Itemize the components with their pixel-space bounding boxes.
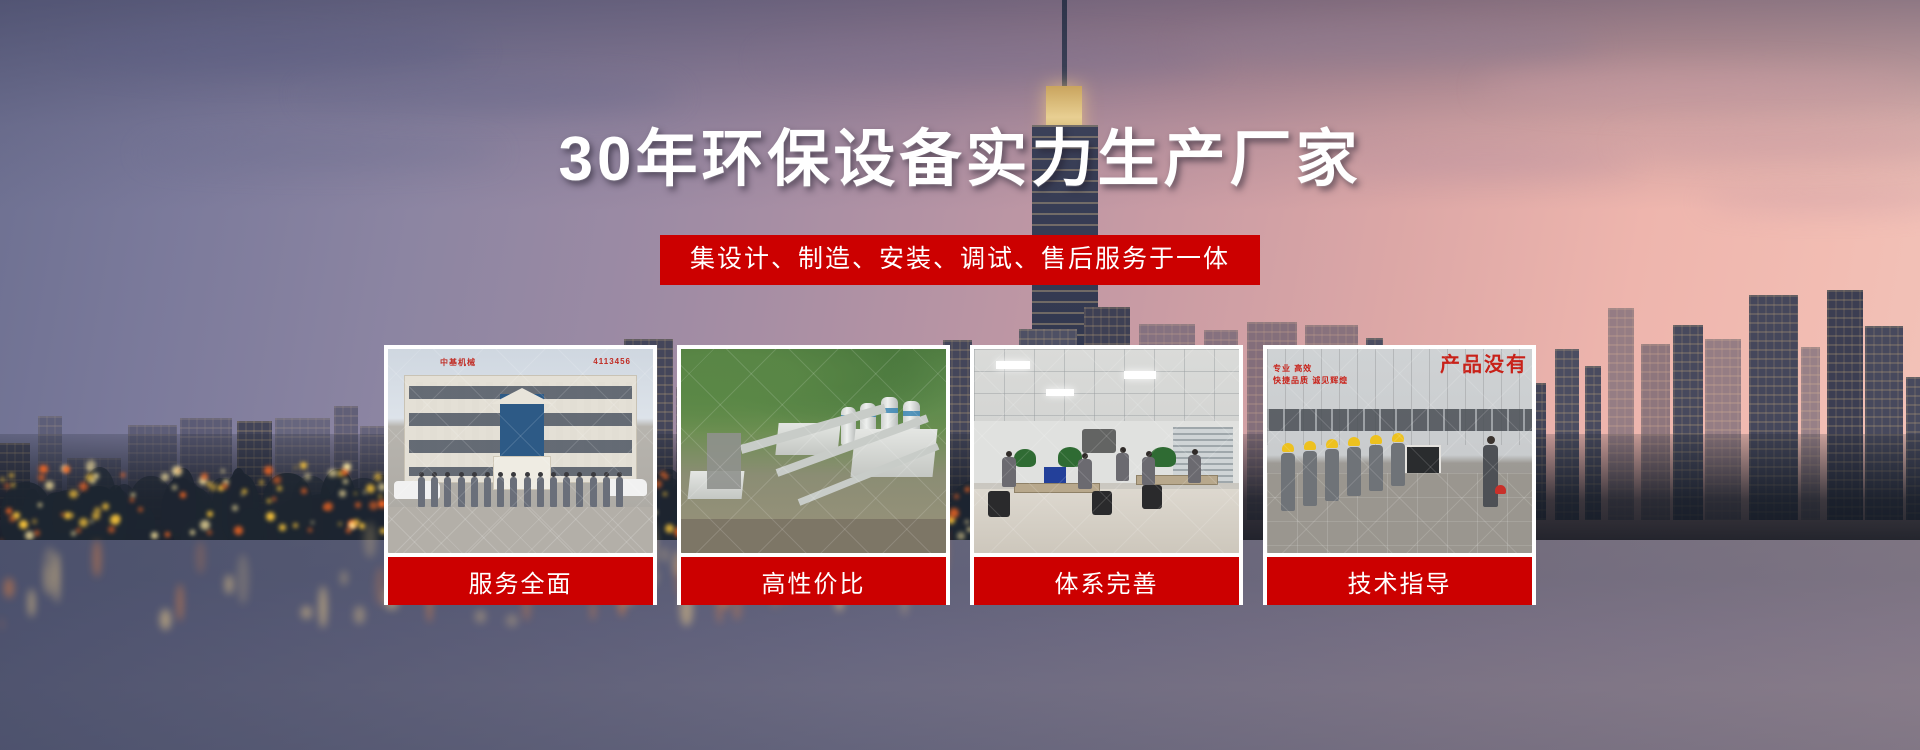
- factory-windows: [1267, 409, 1532, 431]
- hard-hat-icon: [1282, 443, 1294, 452]
- factory-signage: 产品没有: [1440, 355, 1528, 375]
- person-shape: [484, 477, 491, 507]
- cloud-icon: [760, 40, 1220, 80]
- company-signage: 中基机械: [440, 357, 476, 368]
- person-shape: [458, 477, 465, 507]
- feature-card[interactable]: 体系完善: [970, 345, 1243, 605]
- wall-logo: [1082, 429, 1116, 453]
- chair-shape: [988, 491, 1010, 517]
- light-reflection: [506, 614, 518, 627]
- worker-shape: [1281, 453, 1295, 511]
- ceiling-light: [996, 361, 1030, 369]
- car-shape: [605, 479, 647, 496]
- tower-spire: [1062, 0, 1067, 90]
- hero-banner: 30年环保设备实力生产厂家 集设计、制造、安装、调试、售后服务于一体 中基机械 …: [0, 0, 1920, 750]
- monitor-shape: [1044, 467, 1066, 483]
- person-shape: [497, 477, 504, 507]
- person-shape: [1116, 453, 1129, 481]
- person-shape: [431, 477, 438, 507]
- feature-card[interactable]: 中基机械 4113456 服务全面: [384, 345, 657, 605]
- person-shape: [1078, 459, 1092, 489]
- page-title: 30年环保设备实力生产厂家: [0, 108, 1920, 198]
- worker-shape: [1391, 443, 1405, 486]
- person-shape: [524, 477, 531, 507]
- worker-shape: [1369, 445, 1383, 491]
- supervisor-shape: [1483, 445, 1498, 507]
- subtitle-badge: 集设计、制造、安装、调试、售后服务于一体: [660, 235, 1260, 285]
- light-reflection: [475, 610, 486, 623]
- person-shape: [418, 477, 425, 507]
- card-photo-aerial-plant: [681, 349, 946, 553]
- hard-hat-icon: [1370, 435, 1382, 444]
- cloud-icon: [1180, 22, 1600, 66]
- cloud-icon: [60, 28, 480, 74]
- building-shape: [404, 375, 637, 483]
- ceiling-light: [1046, 389, 1074, 396]
- ceiling-grid: [974, 349, 1239, 421]
- person-shape: [471, 477, 478, 507]
- card-label: 体系完善: [974, 557, 1239, 605]
- light-reflection: [354, 606, 365, 624]
- card-label: 服务全面: [388, 557, 653, 605]
- card-photo-office-building: 中基机械 4113456: [388, 349, 653, 553]
- feature-card-row: 中基机械 4113456 服务全面: [0, 345, 1920, 605]
- site-road: [681, 519, 946, 553]
- chair-shape: [1092, 491, 1112, 515]
- light-reflection: [301, 606, 312, 619]
- hard-hat-icon: [1348, 437, 1360, 446]
- worker-shape: [1325, 449, 1339, 501]
- person-shape: [537, 477, 544, 507]
- hard-hat-icon: [1304, 441, 1316, 450]
- person-shape: [576, 477, 583, 507]
- person-shape: [1002, 457, 1016, 487]
- person-shape: [444, 477, 451, 507]
- person-shape: [550, 477, 557, 507]
- worker-shape: [1347, 447, 1361, 496]
- feature-card[interactable]: 高性价比: [677, 345, 950, 605]
- worker-shape: [1303, 451, 1317, 506]
- light-reflection: [160, 609, 171, 630]
- card-label: 高性价比: [681, 557, 946, 605]
- hard-hat-icon: [1326, 439, 1338, 448]
- person-shape: [510, 477, 517, 507]
- ceiling-light: [1124, 371, 1156, 379]
- person-shape: [1142, 457, 1155, 485]
- courtyard-ground: [388, 507, 653, 553]
- person-shape: [603, 477, 610, 507]
- person-shape: [1188, 455, 1201, 483]
- person-shape: [616, 477, 623, 507]
- red-helmet-icon: [1495, 485, 1506, 494]
- hard-hat-icon: [1392, 433, 1404, 442]
- person-shape: [590, 477, 597, 507]
- feature-card[interactable]: 产品没有 专业 高效快捷品质 诚见辉煌 技术指导: [1263, 345, 1536, 605]
- phone-signage: 4113456: [593, 357, 631, 366]
- card-photo-workers: 产品没有 专业 高效快捷品质 诚见辉煌: [1267, 349, 1532, 553]
- subtitle-container: 集设计、制造、安装、调试、售后服务于一体: [0, 235, 1920, 285]
- person-shape: [563, 477, 570, 507]
- card-label: 技术指导: [1267, 557, 1532, 605]
- card-photo-office-interior: [974, 349, 1239, 553]
- light-reflection: [0, 618, 4, 630]
- chair-shape: [1142, 485, 1162, 509]
- process-tower: [707, 433, 741, 489]
- plant-icon: [1014, 449, 1036, 467]
- factory-slogan: 专业 高效快捷品质 诚见辉煌: [1273, 363, 1348, 387]
